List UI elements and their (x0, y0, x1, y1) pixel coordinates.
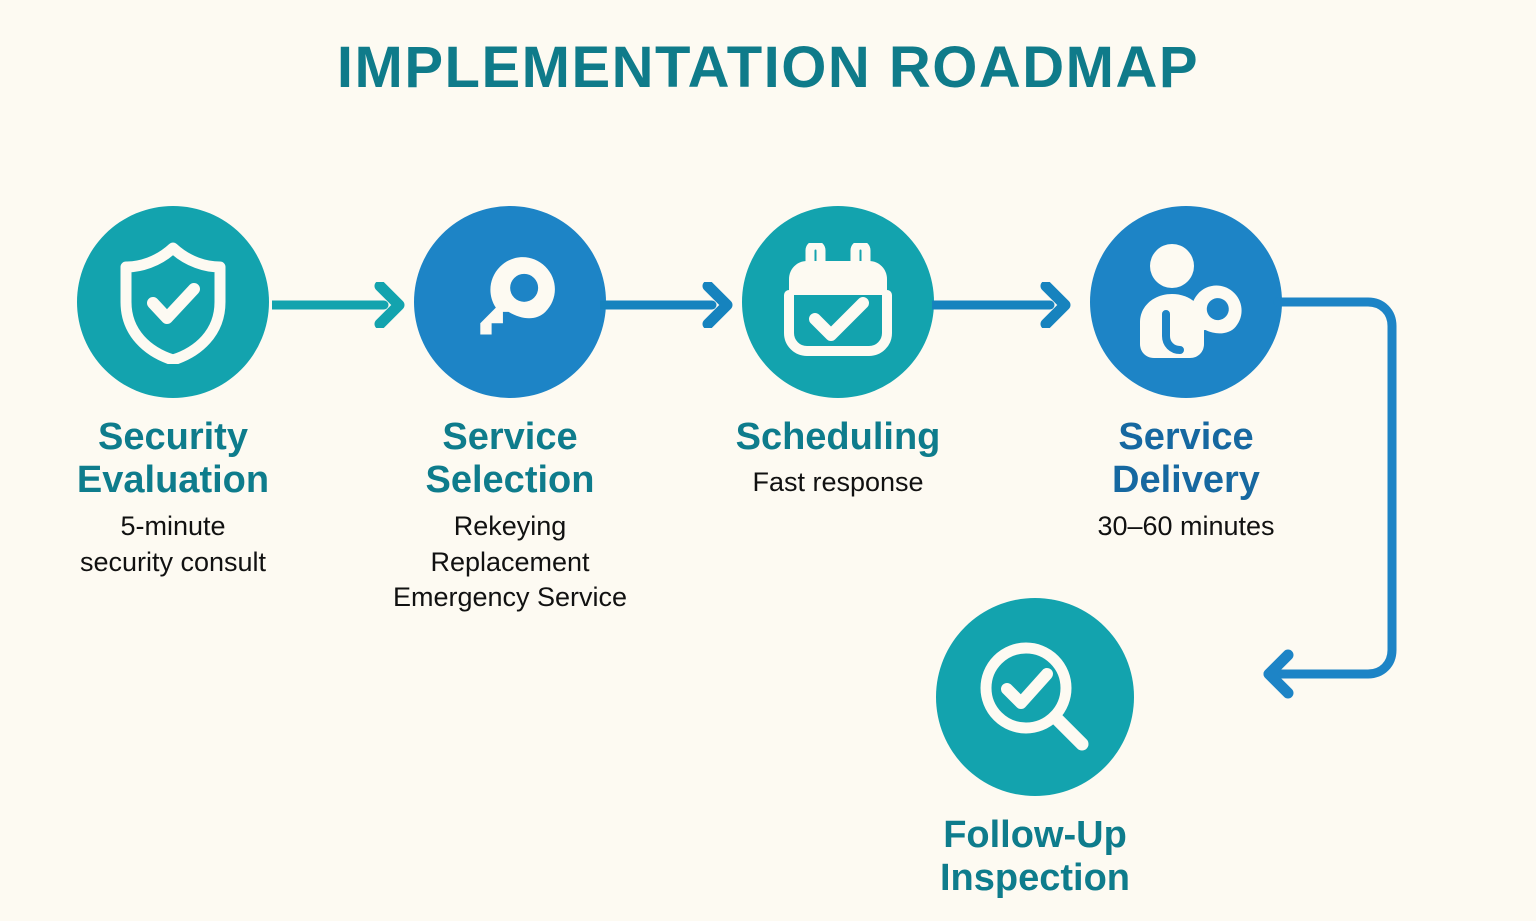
step-2-service-selection[interactable]: Service Selection Rekeying Replacement E… (355, 206, 665, 616)
step-5-follow-up-inspection[interactable]: Follow-Up Inspection (880, 598, 1190, 907)
step-2-subtitle: Rekeying Replacement Emergency Service (355, 509, 665, 617)
magnifier-check-icon (972, 634, 1098, 760)
shield-check-icon (114, 240, 232, 364)
calendar-check-icon (777, 243, 899, 361)
step-1-title: Security Evaluation (18, 416, 328, 503)
technician-key-icon (1124, 240, 1248, 364)
step-5-title: Follow-Up Inspection (880, 814, 1190, 901)
step-1-circle (77, 206, 269, 398)
step-3-title: Scheduling (683, 416, 993, 459)
key-icon (450, 242, 570, 362)
step-3-scheduling[interactable]: Scheduling Fast response (683, 206, 993, 501)
step-2-circle (414, 206, 606, 398)
step-3-circle (742, 206, 934, 398)
step-3-subtitle: Fast response (683, 465, 993, 501)
elbow-step4-to-step5 (1240, 280, 1440, 720)
step-1-subtitle: 5-minute security consult (18, 509, 328, 581)
step-2-title: Service Selection (355, 416, 665, 503)
step-5-circle (936, 598, 1134, 796)
page-title: IMPLEMENTATION ROADMAP (0, 34, 1536, 101)
step-1-security-evaluation[interactable]: Security Evaluation 5-minute security co… (18, 206, 328, 580)
infographic-canvas: IMPLEMENTATION ROADMAP Security Evaluati… (0, 0, 1536, 921)
